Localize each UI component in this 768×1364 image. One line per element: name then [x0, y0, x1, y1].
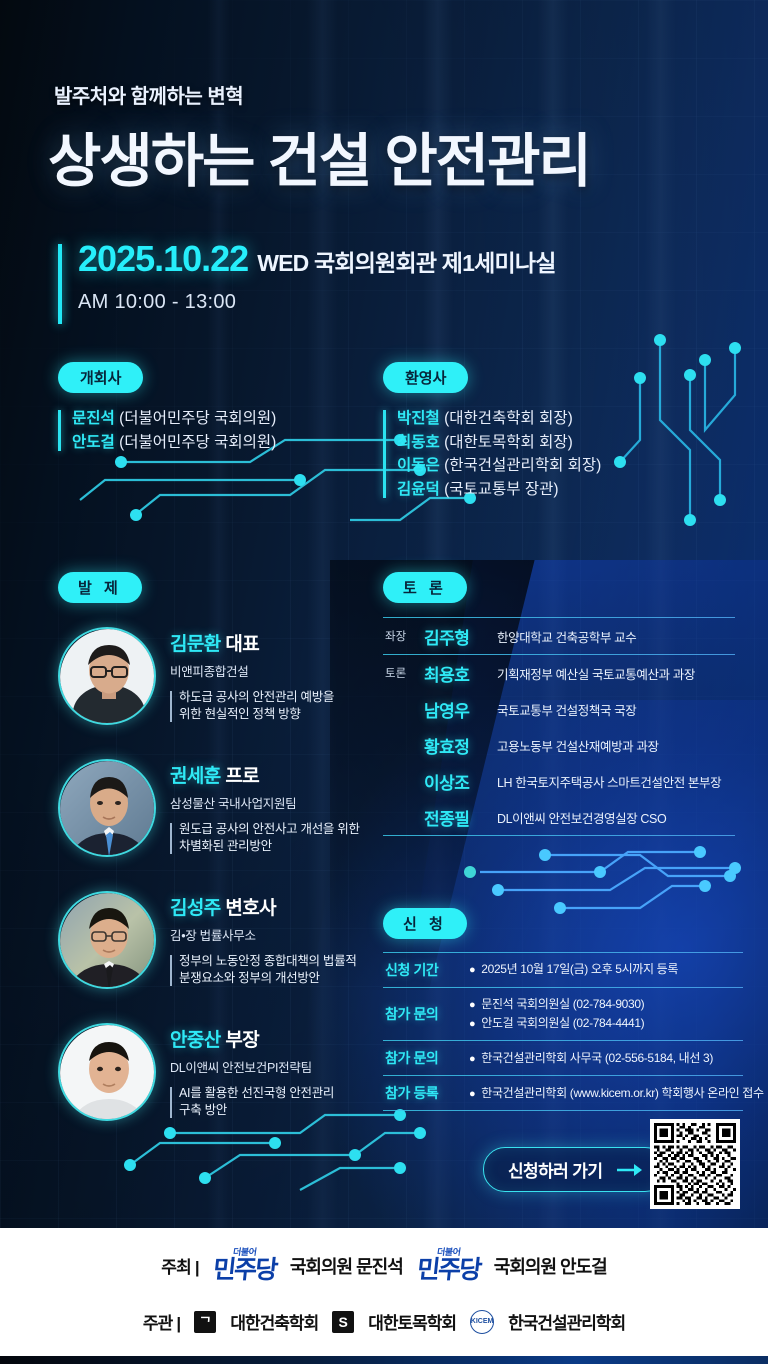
- presenter-title: 변호사: [225, 898, 276, 919]
- person-name: 문진석: [72, 410, 115, 427]
- list-item: 최동호 (대한토목학회 회장): [397, 431, 601, 455]
- presenter-title: 대표: [225, 634, 259, 655]
- table-row: 참가 문의 ● 문진석 국회의원실 (02-784-9030) ● 안도걸 국회…: [383, 988, 743, 1040]
- table-row: 참가 문의 ● 한국건설관리학회 사무국 (02-556-5184, 내선 3): [383, 1041, 743, 1075]
- person-name: 박진철: [397, 410, 440, 427]
- pill-welcome: 환영사: [383, 362, 468, 393]
- page-title: 상생하는 건설 안전관리: [48, 133, 590, 191]
- person-name: 최동호: [397, 434, 440, 451]
- row-name: 최용호: [424, 661, 488, 686]
- row-role: 토론: [385, 665, 415, 681]
- row-name: 전종필: [424, 805, 488, 830]
- event-date: 2025.10.22: [78, 238, 248, 280]
- table-row: 신청 기간 ● 2025년 10월 17일(금) 오후 5시까지 등록: [383, 953, 743, 987]
- row-label: 신청 기간: [385, 960, 469, 980]
- democratic-party-logo: 더불어 민주당: [417, 1248, 480, 1283]
- organizer-label: 주관 |: [143, 1309, 181, 1334]
- logo-main-text: 민주당: [212, 1258, 278, 1283]
- avatar: [58, 759, 156, 857]
- row-title: DL이앤씨 안전보건경영실장 CSO: [497, 808, 666, 827]
- presenter-affiliation: DL이앤씨 안전보건PI전략팀: [170, 1057, 334, 1076]
- apply-table: 신청 기간 ● 2025년 10월 17일(금) 오후 5시까지 등록 참가 문…: [383, 952, 743, 1111]
- table-row: 좌장 김주형 한양대학교 건축공학부 교수: [383, 618, 735, 654]
- aik-logo-icon: ᄀ: [194, 1311, 216, 1333]
- discussion-table: 좌장 김주형 한양대학교 건축공학부 교수 토론 최용호 기획재정부 예산실 국…: [383, 617, 735, 836]
- row-title: LH 한국토지주택공사 스마트건설안전 본부장: [497, 772, 721, 791]
- footer-hosts-row: 주최 | 더불어 민주당 국회의원 문진석 더불어 민주당 국회의원 안도걸: [0, 1248, 768, 1283]
- divider: [383, 654, 735, 655]
- footer: 주최 | 더불어 민주당 국회의원 문진석 더불어 민주당 국회의원 안도걸 주…: [0, 1228, 768, 1356]
- apply-cta-button[interactable]: 신청하러 가기: [483, 1147, 667, 1192]
- row-value: 한국건설관리학회 (www.kicem.or.kr) 학회행사 온라인 접수: [481, 1084, 763, 1103]
- ksce-logo-icon: S: [332, 1311, 354, 1333]
- bullet-icon: ●: [469, 1051, 475, 1068]
- person-org: (대한토목학회 회장): [444, 434, 573, 451]
- divider: [383, 952, 743, 953]
- section-apply: 신 청 신청 기간 ● 2025년 10월 17일(금) 오후 5시까지 등록 …: [383, 908, 743, 1111]
- row-label: 참가 문의: [385, 1048, 469, 1068]
- arrow-right-icon: [616, 1162, 642, 1178]
- avatar: [58, 891, 156, 989]
- list-item: 문진석 (더불어민주당 국회의원): [72, 407, 276, 431]
- row-value: 문진석 국회의원실 (02-784-9030): [481, 995, 644, 1014]
- date-block: 2025.10.22 WED 국회의원회관 제1세미나실 AM 10:00 - …: [58, 238, 556, 314]
- presenter-topic: AI를 활용한 선진국형 안전관리 구축 방안: [170, 1085, 334, 1120]
- person-name: 김윤덕: [397, 481, 440, 498]
- person-org: (더불어민주당 국회의원): [119, 410, 276, 427]
- organizer-text: 대한건축학회: [230, 1309, 318, 1334]
- presenter-list: 김문환 대표 비앤피종합건설 하도급 공사의 안전관리 예방을 위한 현실적인 …: [58, 619, 360, 1147]
- host-text: 국회의원 문진석: [290, 1253, 403, 1279]
- avatar: [58, 1023, 156, 1121]
- logo-main-text: 민주당: [415, 1258, 481, 1283]
- list-item: 안도걸 (더불어민주당 국회의원): [72, 431, 276, 455]
- list-item: 김성주 변호사 김•장 법률사무소 정부의 노동안정 종합대책의 법률적 분쟁요…: [58, 883, 360, 1015]
- topic-line: 구축 방안: [179, 1102, 334, 1119]
- cta-label: 신청하러 가기: [508, 1157, 602, 1182]
- list-item: 김문환 대표 비앤피종합건설 하도급 공사의 안전관리 예방을 위한 현실적인 …: [58, 619, 360, 751]
- list-item: 권세훈 프로 삼성물산 국내사업지원팀 원도급 공사의 안전사고 개선을 위한 …: [58, 751, 360, 883]
- bullet-icon: ●: [469, 997, 475, 1014]
- host-text: 국회의원 안도걸: [494, 1253, 607, 1279]
- section-presentation: 발 제: [58, 572, 360, 1147]
- presenter-name: 안중산: [170, 1030, 221, 1051]
- bullet-icon: ●: [469, 1086, 475, 1103]
- presenter-affiliation: 삼성물산 국내사업지원팀: [170, 793, 360, 812]
- presenter-name-row: 권세훈 프로: [170, 761, 360, 788]
- kicem-logo-icon: KICEM: [470, 1310, 494, 1334]
- person-name: 안도걸: [72, 434, 115, 451]
- presenter-topic: 정부의 노동안정 종합대책의 법률적 분쟁요소와 정부의 개선방안: [170, 953, 357, 988]
- row-title: 기획재정부 예산실 국토교통예산과 과장: [497, 664, 695, 683]
- presenter-affiliation: 김•장 법률사무소: [170, 925, 357, 944]
- row-title: 국토교통부 건설정책국 국장: [497, 700, 636, 719]
- row-title: 한양대학교 건축공학부 교수: [497, 627, 636, 646]
- person-org: (국토교통부 장관): [444, 481, 558, 498]
- presenter-title: 프로: [225, 766, 259, 787]
- row-label: 참가 문의: [385, 1004, 469, 1024]
- list-item: 김윤덕 (국토교통부 장관): [397, 478, 601, 502]
- presenter-name-row: 김문환 대표: [170, 629, 334, 656]
- row-value: 2025년 10월 17일(금) 오후 5시까지 등록: [481, 960, 678, 979]
- topic-line: 정부의 노동안정 종합대책의 법률적: [179, 953, 357, 970]
- row-name: 김주형: [424, 624, 488, 649]
- topic-line: 하도급 공사의 안전관리 예방을: [179, 689, 334, 706]
- person-org: (더불어민주당 국회의원): [119, 434, 276, 451]
- bottom-strip: [0, 1356, 768, 1364]
- row-role: 좌장: [385, 628, 415, 644]
- table-row: 남영우 국토교통부 건설정책국 국장: [383, 691, 735, 727]
- row-title: 고용노동부 건설산재예방과 과장: [497, 736, 659, 755]
- section-opening: 개회사 문진석 (더불어민주당 국회의원) 안도걸 (더불어민주당 국회의원): [58, 362, 276, 454]
- list-item: 이동은 (한국건설관리학회 회장): [397, 454, 601, 478]
- table-row: 토론 최용호 기획재정부 예산실 국토교통예산과 과장: [383, 655, 735, 691]
- table-row: 참가 등록 ● 한국건설관리학회 (www.kicem.or.kr) 학회행사 …: [383, 1076, 743, 1110]
- pill-discussion: 토 론: [383, 572, 467, 603]
- democratic-party-logo: 더불어 민주당: [213, 1248, 276, 1283]
- presenter-name: 김문환: [170, 634, 221, 655]
- row-label: 참가 등록: [385, 1083, 469, 1103]
- topic-line: 차별화된 관리방안: [179, 838, 360, 855]
- section-welcome: 환영사 박진철 (대한건축학회 회장) 최동호 (대한토목학회 회장) 이동은 …: [383, 362, 601, 501]
- pill-apply: 신 청: [383, 908, 467, 939]
- opening-person-list: 문진석 (더불어민주당 국회의원) 안도걸 (더불어민주당 국회의원): [58, 407, 276, 454]
- welcome-person-list: 박진철 (대한건축학회 회장) 최동호 (대한토목학회 회장) 이동은 (한국건…: [383, 407, 601, 501]
- row-value: 한국건설관리학회 사무국 (02-556-5184, 내선 3): [481, 1049, 713, 1068]
- organizer-text: 대한토목학회: [368, 1309, 456, 1334]
- section-discussion: 토 론 좌장 김주형 한양대학교 건축공학부 교수 토론 최용호 기획재정부 예…: [383, 572, 735, 836]
- presenter-name-row: 안중산 부장: [170, 1025, 334, 1052]
- divider: [383, 987, 743, 988]
- presenter-name-row: 김성주 변호사: [170, 893, 357, 920]
- footer-organizers-row: 주관 | ᄀ 대한건축학회 S 대한토목학회 KICEM 한국건설관리학회: [0, 1309, 768, 1334]
- divider: [383, 1075, 743, 1076]
- pill-presentation: 발 제: [58, 572, 142, 603]
- presenter-affiliation: 비앤피종합건설: [170, 661, 334, 680]
- row-name: 이상조: [424, 769, 488, 794]
- row-name: 남영우: [424, 697, 488, 722]
- poster-root: 발주처와 함께하는 변혁 상생하는 건설 안전관리 2025.10.22 WED…: [0, 0, 768, 1364]
- presenter-topic: 하도급 공사의 안전관리 예방을 위한 현실적인 정책 방향: [170, 689, 334, 724]
- presenter-name: 김성주: [170, 898, 221, 919]
- event-time: AM 10:00 - 13:00: [78, 291, 556, 314]
- presenter-title: 부장: [225, 1030, 259, 1051]
- table-row: 이상조 LH 한국토지주택공사 스마트건설안전 본부장: [383, 763, 735, 799]
- presenter-name: 권세훈: [170, 766, 221, 787]
- list-item: 박진철 (대한건축학회 회장): [397, 407, 601, 431]
- table-row: 황효정 고용노동부 건설산재예방과 과장: [383, 727, 735, 763]
- pill-opening: 개회사: [58, 362, 143, 393]
- topic-line: 위한 현실적인 정책 방향: [179, 706, 334, 723]
- event-venue: WED 국회의원회관 제1세미나실: [257, 244, 555, 278]
- divider: [383, 1040, 743, 1041]
- person-name: 이동은: [397, 457, 440, 474]
- presenter-topic: 원도급 공사의 안전사고 개선을 위한 차별화된 관리방안: [170, 821, 360, 856]
- kicker-text: 발주처와 함께하는 변혁: [54, 80, 243, 109]
- qr-code[interactable]: [650, 1119, 740, 1209]
- bullet-icon: ●: [469, 962, 475, 979]
- date-accent-bar: [58, 244, 62, 324]
- row-value: 안도걸 국회의원실 (02-784-4441): [481, 1014, 644, 1033]
- person-org: (대한건축학회 회장): [444, 410, 573, 427]
- topic-line: AI를 활용한 선진국형 안전관리: [179, 1085, 334, 1102]
- divider: [383, 835, 735, 836]
- organizer-text: 한국건설관리학회: [508, 1309, 625, 1334]
- table-row: 전종필 DL이앤씨 안전보건경영실장 CSO: [383, 799, 735, 835]
- list-item: 안중산 부장 DL이앤씨 안전보건PI전략팀 AI를 활용한 선진국형 안전관리…: [58, 1015, 360, 1147]
- divider: [383, 1110, 743, 1111]
- bullet-icon: ●: [469, 1016, 475, 1033]
- topic-line: 원도급 공사의 안전사고 개선을 위한: [179, 821, 360, 838]
- person-org: (한국건설관리학회 회장): [444, 457, 601, 474]
- host-label: 주최 |: [161, 1253, 199, 1278]
- row-name: 황효정: [424, 733, 488, 758]
- avatar: [58, 627, 156, 725]
- topic-line: 분쟁요소와 정부의 개선방안: [179, 970, 357, 987]
- divider: [383, 617, 735, 618]
